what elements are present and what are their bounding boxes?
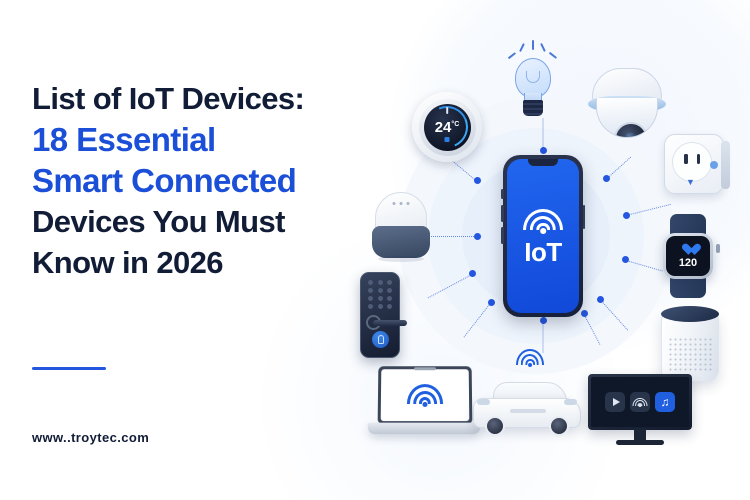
phone-button-volume-up <box>501 205 504 222</box>
smart-speaker[interactable] <box>370 192 432 264</box>
car-grille <box>510 409 546 413</box>
hub-label: IoT <box>524 239 562 265</box>
watch-case: 120 <box>663 233 713 279</box>
bulb-ray-far-right <box>549 52 557 59</box>
watch-heart-rate: 120 <box>679 258 697 269</box>
connector-ray <box>543 119 544 151</box>
plug-side <box>721 141 730 189</box>
headline-line-5: Know in 2026 <box>32 242 382 283</box>
laptop-base <box>367 423 481 434</box>
phone-screen: IoT <box>507 159 579 313</box>
camera-lens-inner <box>625 133 638 139</box>
connector-node <box>474 177 481 184</box>
fingerprint-icon[interactable] <box>372 331 389 348</box>
headline-line-2: 18 Essential <box>32 119 382 160</box>
phone-button-volume-down <box>501 227 504 244</box>
infographic-canvas: List of IoT Devices: 18 Essential Smart … <box>0 0 750 500</box>
site-url: www..troytec.com <box>32 430 149 445</box>
wifi-glyph <box>633 397 648 407</box>
connector-ray <box>428 274 473 298</box>
plug-slot-right <box>697 154 701 164</box>
laptop-screen <box>381 369 470 421</box>
speaker-led-dots <box>393 202 410 205</box>
connector-node <box>469 270 476 277</box>
plug-outlet-face <box>672 142 712 182</box>
laptop-lid <box>378 366 473 424</box>
smart-tv[interactable]: ♫ <box>588 374 692 450</box>
lock-handle[interactable] <box>373 320 407 326</box>
page-title: List of IoT Devices: 18 Essential Smart … <box>32 78 382 283</box>
headline-line-1: List of IoT Devices: <box>32 78 382 119</box>
bulb-ray-left <box>519 43 524 52</box>
laptop[interactable] <box>368 366 480 444</box>
wifi-icon <box>516 348 544 367</box>
bulb-ray-center <box>532 40 534 50</box>
connected-car[interactable] <box>473 372 581 438</box>
iot-hub-phone[interactable]: IoT <box>503 155 583 317</box>
purifier-mesh <box>668 337 712 372</box>
speaker-shadow <box>378 256 424 262</box>
watch-crown[interactable] <box>716 244 720 253</box>
thermostat-tick <box>446 107 448 114</box>
thermostat-value: 24 <box>435 119 452 136</box>
purifier-body <box>661 314 719 382</box>
speaker-base <box>372 226 430 258</box>
plug-slot-left <box>684 154 688 164</box>
bulb-base <box>523 100 543 116</box>
connector-ray <box>600 300 628 330</box>
thermostat-unit: °C <box>451 121 459 128</box>
thermostat-display: 24°C <box>424 104 471 151</box>
car-headlight-right <box>564 399 577 405</box>
connector-node <box>623 212 630 219</box>
tv-stand-foot <box>616 440 664 445</box>
purifier-top-vent <box>661 306 719 322</box>
thermostat-bezel: 24°C <box>412 92 482 162</box>
car-wheel-left <box>485 416 505 436</box>
play-icon[interactable] <box>605 392 625 412</box>
car-headlight-left <box>477 399 490 405</box>
smart-door-lock[interactable] <box>360 272 412 360</box>
thermostat-indicator <box>445 137 450 142</box>
car-wheel-right <box>549 416 569 436</box>
connector-node <box>488 299 495 306</box>
tv-panel: ♫ <box>588 374 692 430</box>
heart-icon <box>682 244 695 256</box>
plug-power-button[interactable] <box>710 161 718 169</box>
connector-node <box>540 317 547 324</box>
watch-screen: 120 <box>666 236 710 276</box>
thermostat-temperature: 24°C <box>435 120 460 135</box>
connector-ray <box>464 302 492 337</box>
connector-node <box>474 233 481 240</box>
plug-body: ▼ <box>664 134 724 194</box>
lock-body <box>360 272 400 358</box>
headline-line-3: Smart Connected <box>32 160 382 201</box>
bulb-ray-far-left <box>508 52 516 59</box>
laptop-camera <box>414 367 436 369</box>
bulb-ray-right <box>540 43 545 52</box>
smart-light-bulb[interactable] <box>504 40 562 120</box>
music-note-icon[interactable]: ♫ <box>655 392 675 412</box>
phone-button-mute <box>501 189 504 199</box>
phone-button-power <box>583 205 586 229</box>
title-underline <box>32 367 106 370</box>
camera-lens <box>614 122 648 138</box>
camera-dome <box>596 98 658 138</box>
thermostat-ring: 24°C <box>419 99 476 156</box>
connector-node <box>622 256 629 263</box>
wifi-icon <box>523 208 563 234</box>
tv-screen: ♫ <box>591 377 689 427</box>
headline-line-4: Devices You Must <box>32 201 382 242</box>
phone-body: IoT <box>503 155 583 317</box>
phone-notch <box>528 159 558 166</box>
smart-thermostat[interactable]: 24°C <box>412 92 482 162</box>
plug-brand-mark: ▼ <box>686 178 695 187</box>
smart-plug[interactable]: ▼ <box>664 134 732 202</box>
smart-watch[interactable]: 120 <box>650 214 730 298</box>
security-dome-camera[interactable] <box>586 68 668 140</box>
connector-node <box>540 147 547 154</box>
wifi-icon[interactable] <box>630 392 650 412</box>
connector-ray <box>607 157 631 179</box>
wifi-icon <box>407 383 443 407</box>
connector-node <box>603 175 610 182</box>
connector-ray <box>584 314 601 344</box>
lock-keypad[interactable] <box>368 280 394 309</box>
